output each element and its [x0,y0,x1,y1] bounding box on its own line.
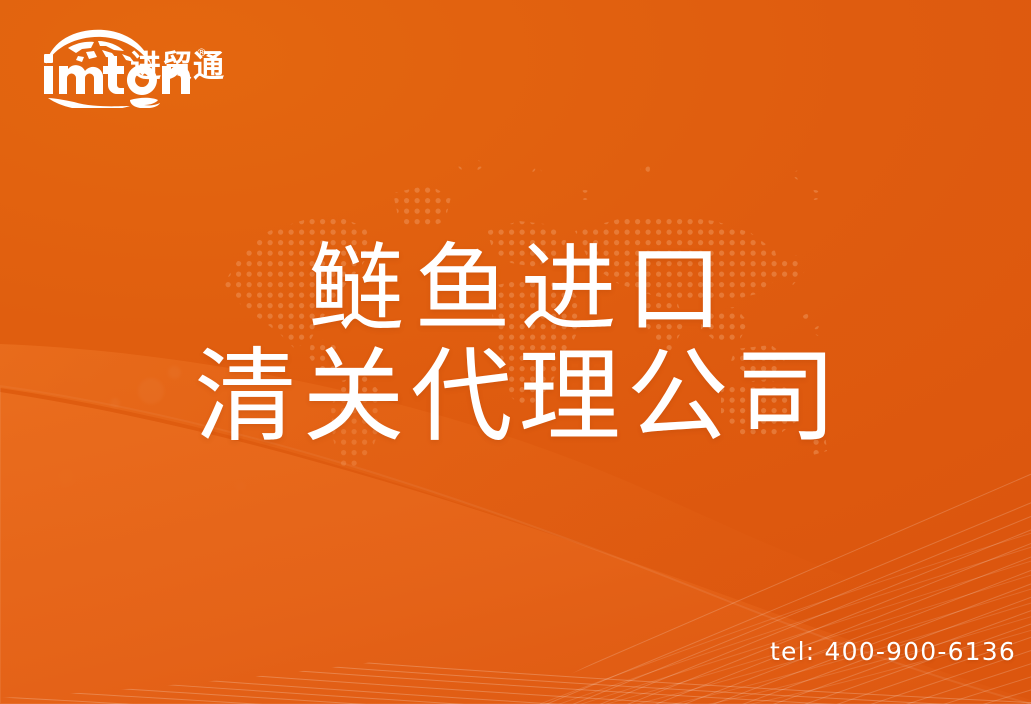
headline-line-1: 鲢鱼进口 [0,236,1031,342]
page-title: 鲢鱼进口 清关代理公司 [0,236,1031,454]
logo-trademark-symbol: ® [196,46,207,59]
swoosh-icon [48,98,160,108]
logo-chinese-name: 进贸通 [130,52,225,83]
headline-line-2: 清关代理公司 [0,342,1031,454]
promo-banner: 进贸通 ® 鲢鱼进口 清关代理公司 tel: 400-900-6136 [0,0,1031,704]
contact-phone[interactable]: tel: 400-900-6136 [770,637,1016,666]
